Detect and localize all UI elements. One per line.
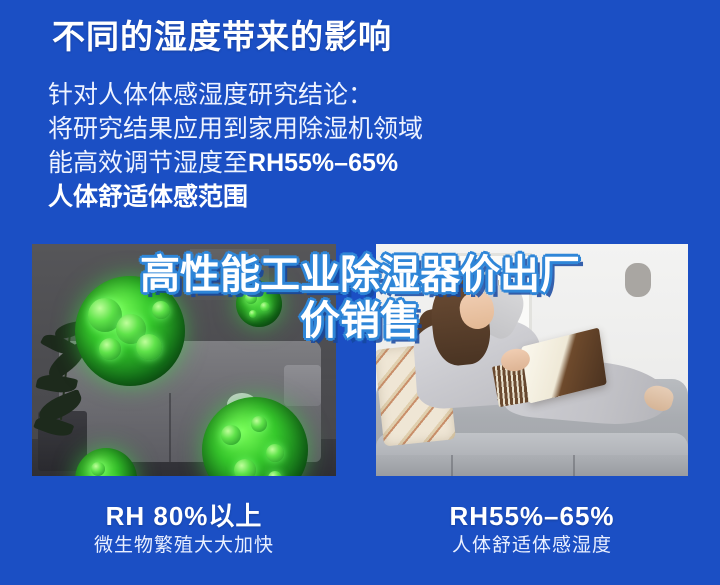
woman-reading-figure	[392, 267, 679, 471]
dark-room-scene	[32, 244, 336, 476]
right-caption-title: RH55%–65%	[376, 500, 688, 532]
dark-sofa-cushion	[284, 365, 320, 407]
intro-line-2: 将研究结果应用到家用除湿机领域	[48, 112, 478, 146]
dark-sofa-seam	[169, 393, 171, 463]
intro-text-block: 针对人体体感湿度研究结论： 将研究结果应用到家用除湿机领域 能高效调节湿度至RH…	[48, 78, 478, 214]
intro-line-4: 人体舒适体感范围	[48, 180, 478, 214]
intro-line-3-prefix: 能高效调节湿度至	[48, 149, 248, 177]
left-caption-subtitle: 微生物繁殖大大加快	[32, 532, 336, 560]
left-caption: RH 80%以上 微生物繁殖大大加快	[32, 500, 336, 560]
bright-room-scene	[376, 244, 688, 476]
left-caption-title: RH 80%以上	[32, 500, 336, 532]
left-photo-dark-room	[32, 244, 336, 476]
right-caption-subtitle: 人体舒适体感湿度	[376, 532, 688, 560]
humidity-infographic-poster: 不同的湿度带来的影响 针对人体体感湿度研究结论： 将研究结果应用到家用除湿机领域…	[0, 0, 720, 585]
right-caption: RH55%–65% 人体舒适体感湿度	[376, 500, 688, 560]
page-title: 不同的湿度带来的影响	[52, 18, 392, 56]
right-photo-bright-room	[376, 244, 688, 476]
microbe-cluster-icon	[75, 276, 185, 386]
microbe-cluster-icon	[236, 281, 282, 327]
intro-line-3-value: RH55%–65%	[248, 149, 398, 177]
intro-line-1: 针对人体体感湿度研究结论：	[48, 78, 478, 112]
intro-line-3: 能高效调节湿度至RH55%–65%	[48, 146, 478, 180]
